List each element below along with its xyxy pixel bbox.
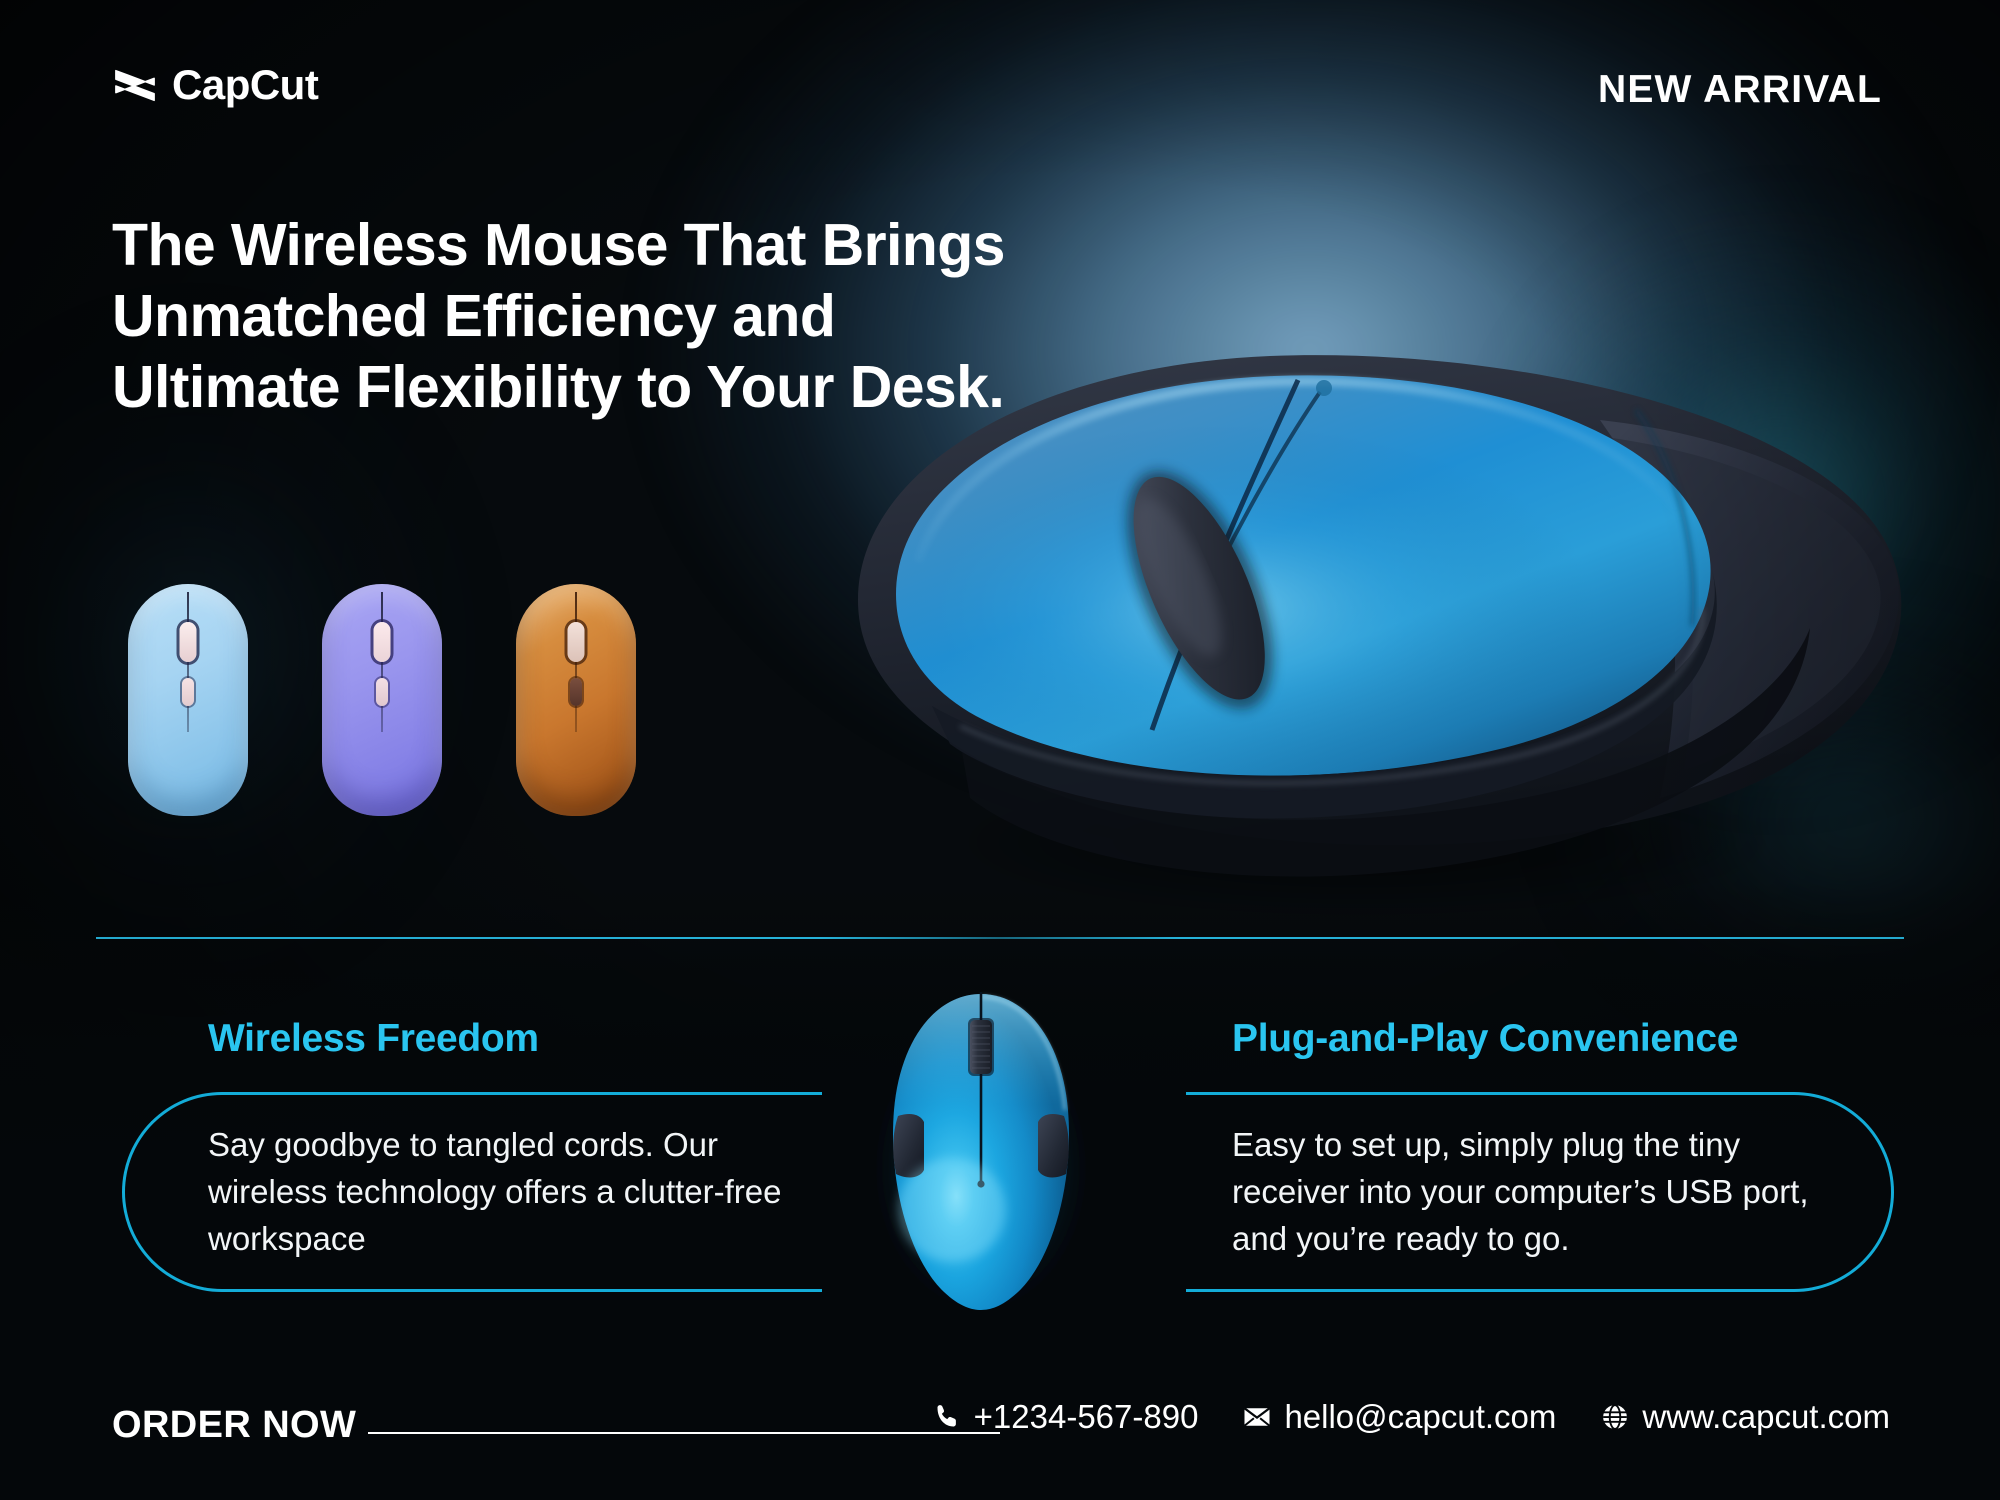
swatch-button <box>182 678 194 706</box>
order-now-rule <box>368 1432 1000 1434</box>
contact-phone[interactable]: +1234-567-890 <box>932 1400 1199 1433</box>
swatch-wheel <box>374 622 391 662</box>
new-arrival-badge: NEW ARRIVAL <box>1598 70 1882 109</box>
feature-body: Say goodbye to tangled cords. Our wirele… <box>208 1122 828 1263</box>
contact-email[interactable]: hello@capcut.com <box>1242 1400 1556 1433</box>
feature-body: Easy to set up, simply plug the tiny rec… <box>1232 1122 1852 1263</box>
contact-email-text: hello@capcut.com <box>1284 1400 1556 1433</box>
swatch-button <box>570 678 582 706</box>
envelope-icon <box>1242 1402 1272 1432</box>
feature-title: Wireless Freedom <box>208 1018 908 1061</box>
globe-icon <box>1600 1402 1630 1432</box>
color-option-light-blue[interactable] <box>128 584 248 816</box>
feature-title: Plug-and-Play Convenience <box>1232 1018 1932 1061</box>
contact-website-text: www.capcut.com <box>1642 1400 1890 1433</box>
contact-info-row: +1234-567-890 hello@capcut.com www.capcu <box>932 1400 1890 1433</box>
color-option-periwinkle[interactable] <box>322 584 442 816</box>
section-divider <box>96 937 1904 939</box>
hero-headline: The Wireless Mouse That Brings Unmatched… <box>112 210 1012 422</box>
swatch-button <box>376 678 388 706</box>
phone-icon <box>932 1402 962 1432</box>
feature-block-plug-and-play: Plug-and-Play Convenience <box>1232 1018 1932 1073</box>
swatch-seam <box>575 592 577 732</box>
center-mouse-image <box>876 988 1086 1318</box>
feature-block-wireless-freedom: Wireless Freedom <box>208 1018 908 1073</box>
contact-website[interactable]: www.capcut.com <box>1600 1400 1890 1433</box>
brand-name: CapCut <box>172 64 318 106</box>
contact-phone-text: +1234-567-890 <box>974 1400 1199 1433</box>
color-option-copper[interactable] <box>516 584 636 816</box>
swatch-seam <box>381 592 383 732</box>
capcut-logo-icon <box>112 62 158 108</box>
swatch-wheel <box>568 622 585 662</box>
swatch-wheel <box>180 622 197 662</box>
brand-logo: CapCut <box>112 62 318 108</box>
color-options-row <box>128 584 636 816</box>
poster-canvas: CapCut NEW ARRIVAL The Wireless Mouse Th… <box>0 0 2000 1500</box>
order-now-label[interactable]: ORDER NOW <box>112 1406 356 1444</box>
swatch-seam <box>187 592 189 732</box>
